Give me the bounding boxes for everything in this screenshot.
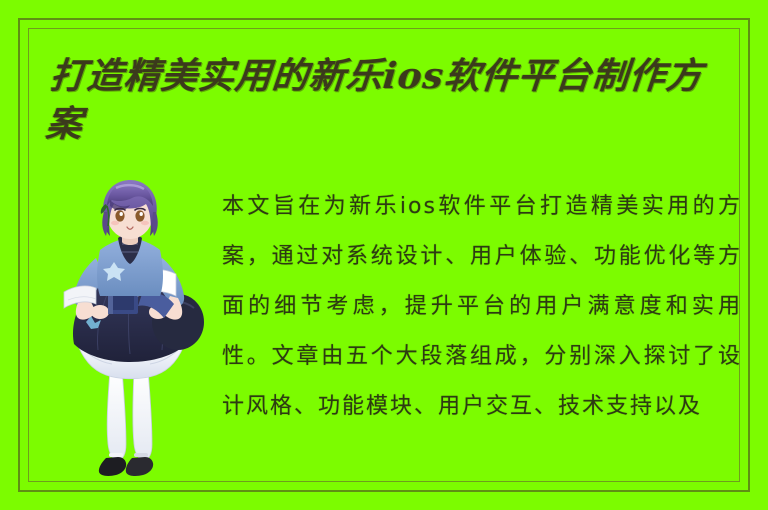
poster-canvas: 打造精美实用的新乐ios软件平台制作方案 xyxy=(0,0,768,510)
page-title: 打造精美实用的新乐ios软件平台制作方案 xyxy=(44,52,732,148)
body-paragraph: 本文旨在为新乐ios软件平台打造精美实用的方案，通过对系统设计、用户体验、功能优… xyxy=(222,182,742,432)
anime-girl-illustration xyxy=(38,172,218,482)
head xyxy=(101,180,158,239)
shoes xyxy=(99,453,153,476)
